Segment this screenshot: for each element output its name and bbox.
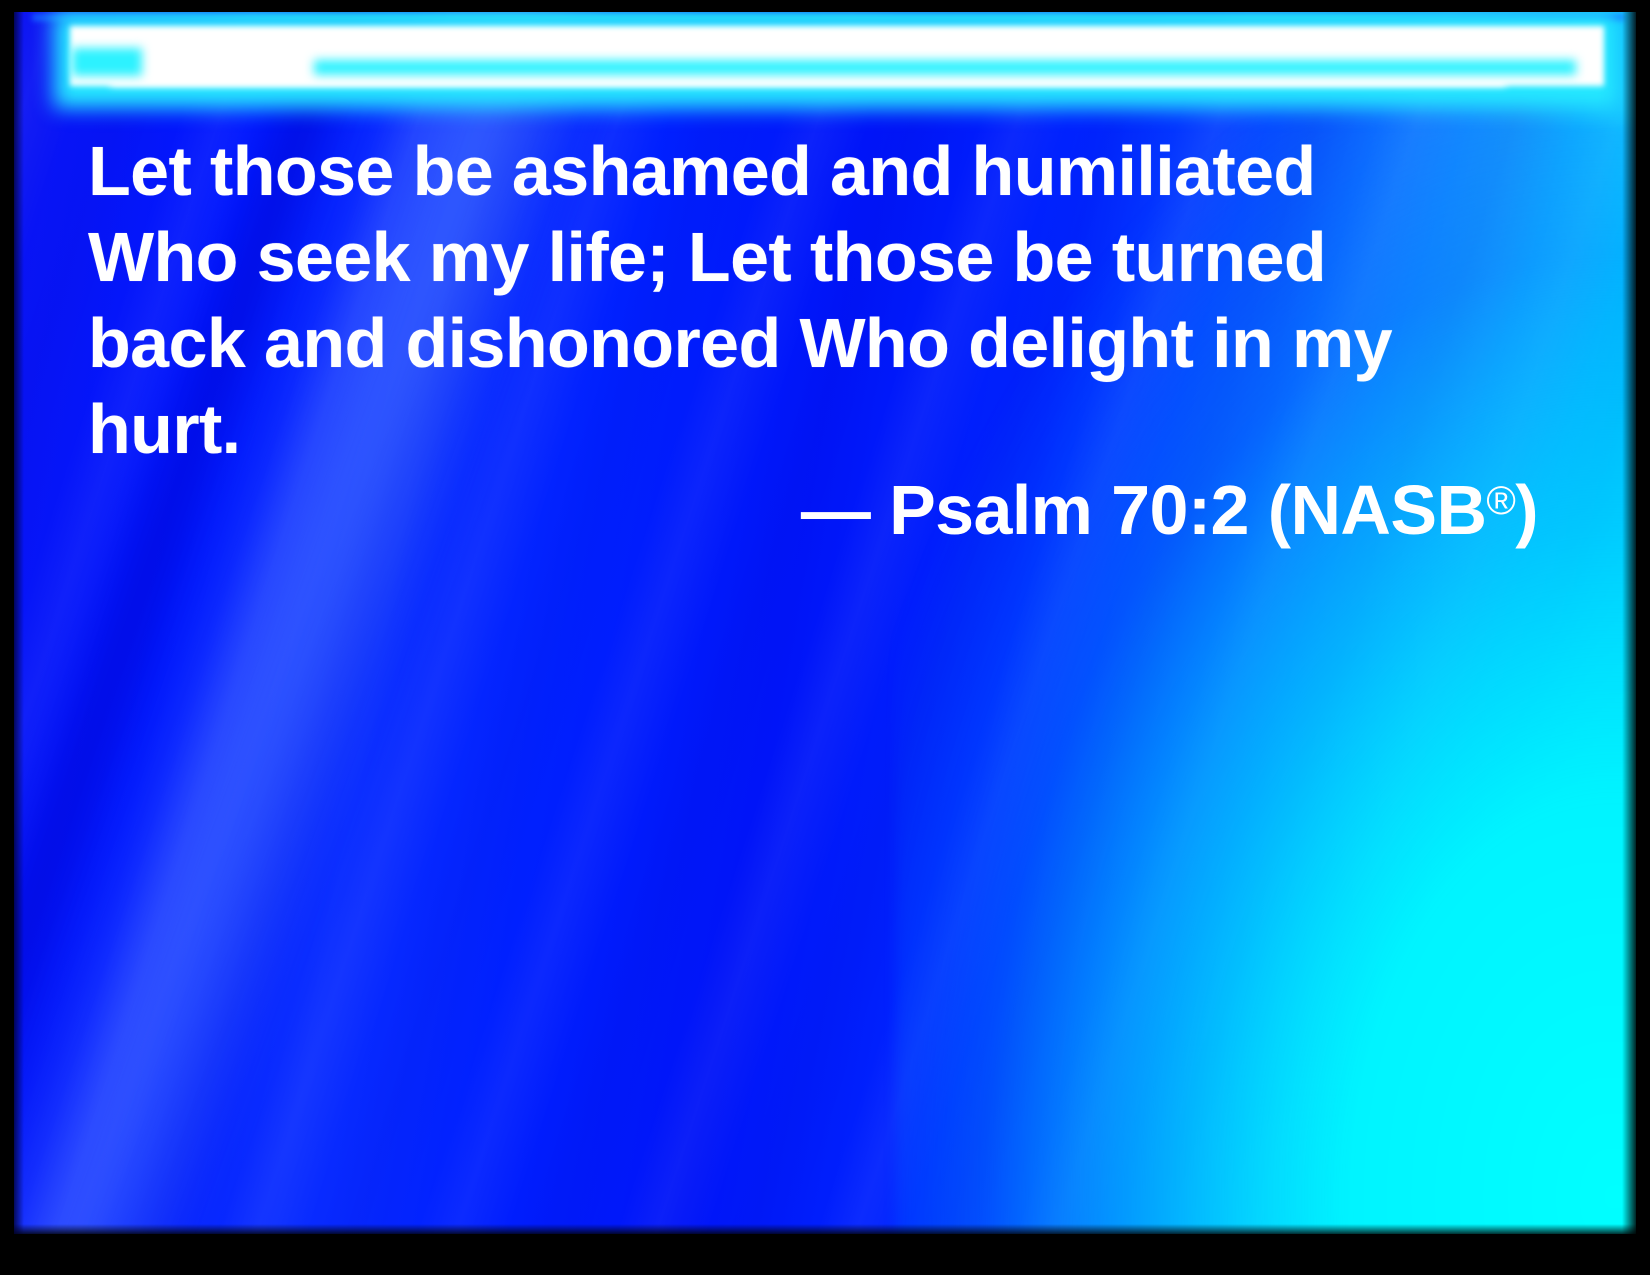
verse-line-3: back and dishonored Who delight in my (88, 300, 1548, 386)
canvas-edge-left (14, 12, 24, 1234)
verse-line-1: Let those be ashamed and humiliated (88, 128, 1548, 214)
attribution-reference: Psalm 70:2 (889, 471, 1249, 549)
verse-attribution: — Psalm 70:2 (NASB®) (88, 467, 1538, 553)
top-band-cyan-knot (72, 48, 142, 76)
verse-slide: Let those be ashamed and humiliated Who … (0, 0, 1650, 1275)
slide-canvas: Let those be ashamed and humiliated Who … (14, 12, 1636, 1234)
registered-trademark-icon: ® (1486, 479, 1515, 523)
top-glow-band (14, 12, 1636, 142)
attribution-spacer-2 (1249, 471, 1268, 549)
attribution-close-paren: ) (1515, 471, 1538, 549)
attribution-spacer (870, 471, 889, 549)
verse-line-2: Who seek my life; Let those be turned (88, 214, 1548, 300)
attribution-line: — Psalm 70:2 (NASB®) (88, 467, 1538, 553)
verse-text-block: Let those be ashamed and humiliated Who … (88, 128, 1548, 472)
canvas-edge-right (1622, 12, 1636, 1234)
attribution-dash: — (801, 471, 870, 549)
attribution-translation: NASB (1290, 471, 1486, 549)
top-band-cyan-streak (314, 60, 1576, 75)
verse-line-4: hurt. (88, 386, 1548, 472)
attribution-open-paren: ( (1268, 471, 1291, 549)
canvas-edge-bottom (14, 1224, 1636, 1234)
